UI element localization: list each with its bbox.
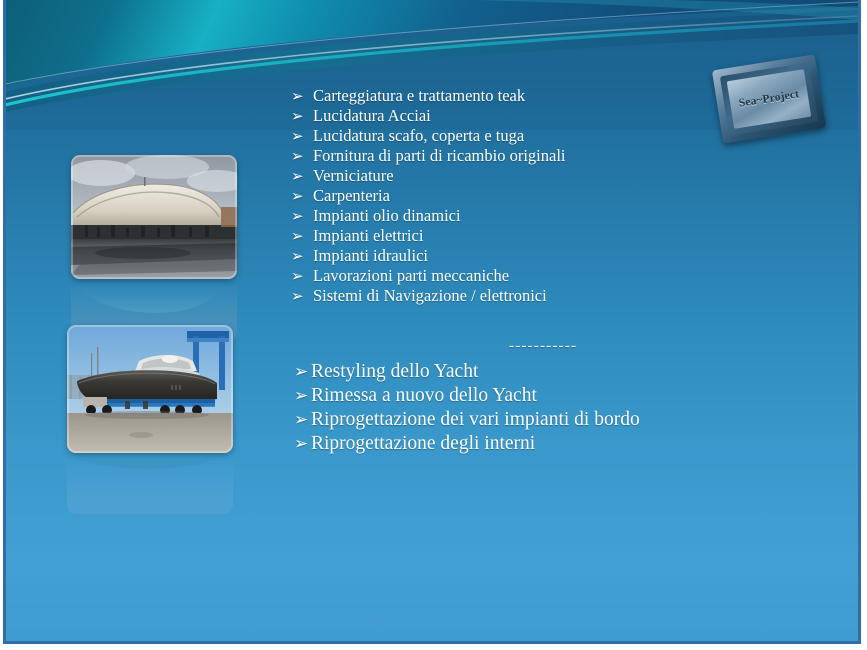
list-item: ➢ Lucidatura Acciai — [291, 106, 811, 126]
photo-yacht-trailer-reflection-art — [67, 454, 233, 514]
arrow-bullet-icon: ➢ — [291, 206, 313, 226]
list-item: ➢ Carpenteria — [291, 186, 811, 206]
list-item: ➢ Riprogettazione degli interni — [294, 432, 824, 456]
arrow-bullet-icon: ➢ — [291, 286, 313, 306]
arrow-bullet-icon: ➢ — [291, 226, 313, 246]
list-item: ➢ Rimessa a nuovo dello Yacht — [294, 384, 824, 408]
list-item-label: Carpenteria — [313, 186, 390, 206]
arrow-bullet-icon: ➢ — [294, 408, 311, 432]
list-item-label: Lucidatura scafo, coperta e tuga — [313, 126, 524, 146]
list-item-label: Impianti idraulici — [313, 246, 428, 266]
photo-boat-hull-art — [71, 155, 237, 279]
arrow-bullet-icon: ➢ — [294, 360, 311, 384]
list-item: ➢ Impianti idraulici — [291, 246, 811, 266]
photo-yacht-trailer[interactable] — [67, 325, 233, 453]
list-item: ➢ Lavorazioni parti meccaniche — [291, 266, 811, 286]
list-item-label: Verniciature — [313, 166, 394, 186]
list-item-label: Impianti elettrici — [313, 226, 423, 246]
photo-boat-hull-wrapper — [71, 155, 237, 342]
photo-yacht-trailer-wrapper — [67, 325, 233, 514]
list-item-label: Rimessa a nuovo dello Yacht — [311, 384, 537, 408]
arrow-bullet-icon: ➢ — [291, 266, 313, 286]
arrow-bullet-icon: ➢ — [291, 126, 313, 146]
slide-content: Sea~Project — [5, 0, 859, 641]
list-item: ➢ Lucidatura scafo, coperta e tuga — [291, 126, 811, 146]
list-item: ➢ Riprogettazione dei vari impianti di b… — [294, 408, 824, 432]
list-item: ➢ Impianti elettrici — [291, 226, 811, 246]
list-item-label: Riprogettazione dei vari impianti di bor… — [311, 408, 640, 432]
list-item: ➢ Fornitura di parti di ricambio origina… — [291, 146, 811, 166]
list-item-label: Sistemi di Navigazione / elettronici — [313, 286, 547, 306]
list-item: ➢ Impianti olio dinamici — [291, 206, 811, 226]
list-item: ➢ Carteggiatura e trattamento teak — [291, 86, 811, 106]
arrow-bullet-icon: ➢ — [291, 106, 313, 126]
photo-yacht-trailer-reflection — [67, 454, 233, 514]
list-item: ➢ Sistemi di Navigazione / elettronici — [291, 286, 811, 306]
list-item-label: Impianti olio dinamici — [313, 206, 461, 226]
photo-boat-hull[interactable] — [71, 155, 237, 279]
services-list-primary: ➢ Carteggiatura e trattamento teak ➢ Luc… — [291, 86, 811, 306]
section-separator: ----------- — [509, 338, 577, 355]
list-item-label: Lavorazioni parti meccaniche — [313, 266, 509, 286]
arrow-bullet-icon: ➢ — [291, 146, 313, 166]
list-item-label: Riprogettazione degli interni — [311, 432, 535, 456]
list-item-label: Lucidatura Acciai — [313, 106, 431, 126]
arrow-bullet-icon: ➢ — [291, 166, 313, 186]
services-list-secondary: ➢ Restyling dello Yacht ➢ Rimessa a nuov… — [294, 360, 824, 456]
photo-yacht-trailer-art — [67, 325, 233, 453]
list-item-label: Fornitura di parti di ricambio originali — [313, 146, 566, 166]
arrow-bullet-icon: ➢ — [291, 186, 313, 206]
list-item: ➢ Restyling dello Yacht — [294, 360, 824, 384]
arrow-bullet-icon: ➢ — [291, 86, 313, 106]
arrow-bullet-icon: ➢ — [291, 246, 313, 266]
list-item-label: Restyling dello Yacht — [311, 360, 478, 384]
arrow-bullet-icon: ➢ — [294, 432, 311, 456]
list-item-label: Carteggiatura e trattamento teak — [313, 86, 525, 106]
list-item: ➢ Verniciature — [291, 166, 811, 186]
arrow-bullet-icon: ➢ — [294, 384, 311, 408]
presentation-slide: Sea~Project — [0, 0, 867, 650]
